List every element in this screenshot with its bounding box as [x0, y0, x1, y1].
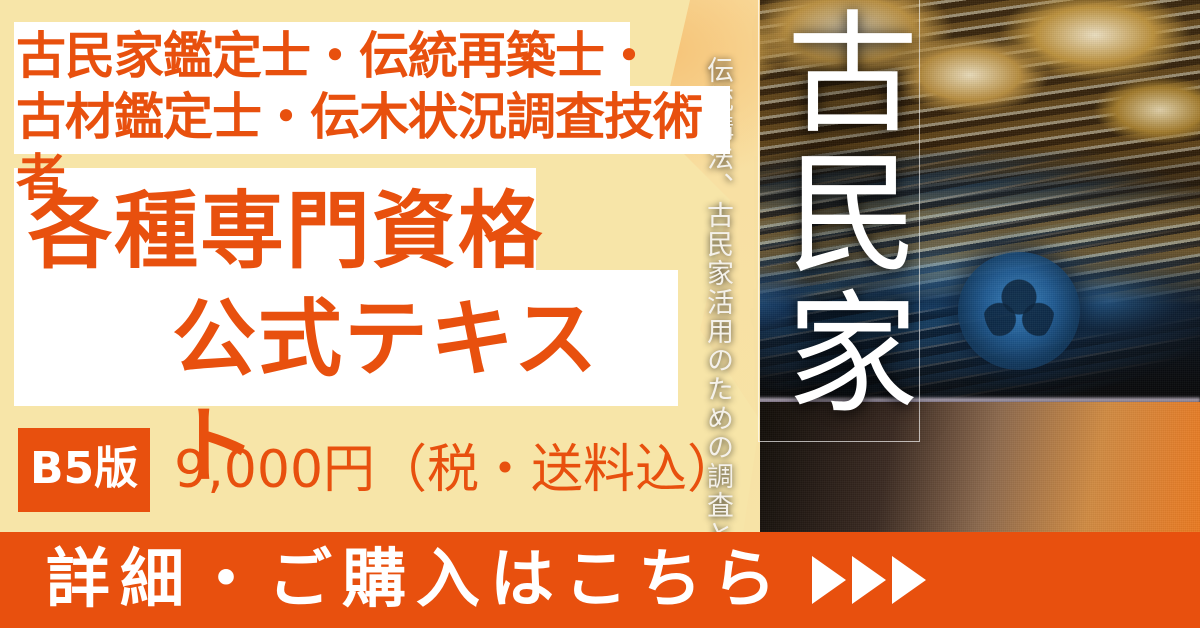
arrow-right-icon-1: [812, 556, 846, 604]
arrow-right-icon-3: [892, 556, 926, 604]
price-text: 9,000円（税・送料込）: [174, 444, 739, 496]
book-title-vertical: 古民家: [770, 4, 910, 444]
cta-bar[interactable]: 詳細・ご購入はこちら: [0, 532, 1200, 628]
format-badge: B5版: [18, 428, 150, 512]
cta-label: 詳細・ご購入はこちら: [46, 548, 786, 612]
cta-arrows: [812, 556, 926, 604]
price-row: B5版 9,000円（税・送料込）: [18, 428, 739, 512]
main-title-line-1: 各種専門資格: [20, 178, 680, 286]
arrow-right-icon-2: [852, 556, 886, 604]
promo-banner: 古民家 伝統構法、古民家活用のための調査と再生の 古民家鑑定士・伝統再築士・ 古…: [0, 0, 1200, 628]
